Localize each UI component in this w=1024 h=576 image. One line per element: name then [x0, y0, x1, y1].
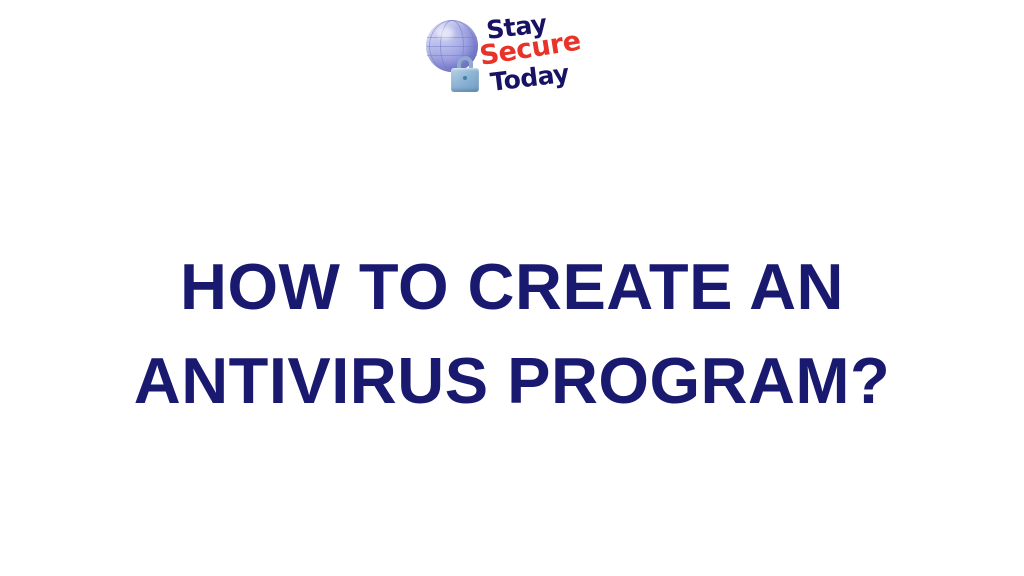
padlock-icon — [450, 56, 480, 94]
brand-logo-inner: Stay Secure Today — [424, 12, 600, 104]
globe-padlock-icon — [424, 20, 486, 96]
page-title-line-1: HOW TO CREATE AN — [40, 240, 984, 334]
brand-wordmark: Stay Secure Today — [482, 12, 600, 104]
globe-highlight — [437, 27, 454, 39]
padlock-keyhole — [463, 76, 467, 80]
globe-parallel — [427, 46, 477, 47]
padlock-body — [451, 68, 479, 92]
globe-parallel — [427, 37, 477, 38]
brand-word-today: Today — [489, 61, 570, 95]
page-title-line-2: ANTIVIRUS PROGRAM? — [40, 334, 984, 428]
page-title: HOW TO CREATE AN ANTIVIRUS PROGRAM? — [0, 240, 1024, 428]
slide-canvas: Stay Secure Today HOW TO CREATE AN ANTIV… — [0, 0, 1024, 576]
brand-logo[interactable]: Stay Secure Today — [0, 12, 1024, 104]
